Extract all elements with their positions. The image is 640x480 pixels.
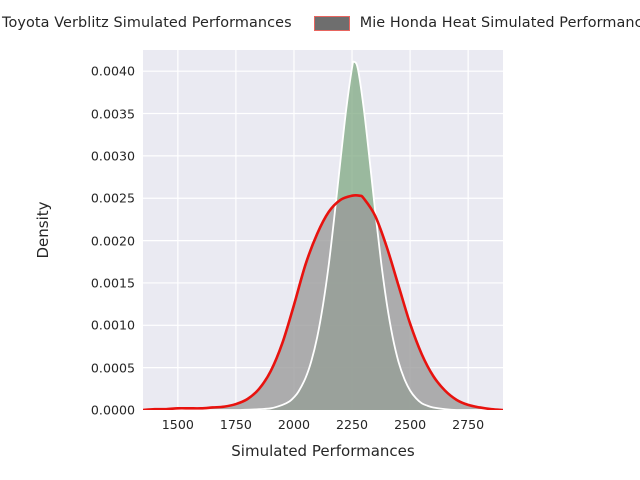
y-tick-label: 0.0020 [47, 233, 135, 248]
y-tick-label: 0.0015 [47, 275, 135, 290]
y-axis-tick-labels: 0.00000.00050.00100.00150.00200.00250.00… [45, 50, 135, 410]
legend-entry-toyota-verblitz: Toyota Verblitz Simulated Performances [0, 15, 292, 31]
plot-area [143, 50, 503, 410]
legend-swatch-mie-honda-heat [314, 16, 350, 31]
chart-legend: Toyota Verblitz Simulated Performances M… [0, 0, 640, 46]
y-tick-label: 0.0035 [47, 106, 135, 121]
y-tick-label: 0.0005 [47, 360, 135, 375]
y-tick-label: 0.0040 [47, 64, 135, 79]
x-axis-label: Simulated Performances [143, 442, 503, 460]
density-plot-figure: Toyota Verblitz Simulated Performances M… [0, 0, 640, 480]
x-axis-tick-labels: 150017502000225025002750 [143, 417, 503, 437]
y-tick-label: 0.0025 [47, 191, 135, 206]
x-tick-label: 2500 [394, 417, 426, 432]
x-tick-label: 1500 [162, 417, 194, 432]
x-tick-label: 1750 [220, 417, 252, 432]
legend-label-toyota-verblitz: Toyota Verblitz Simulated Performances [2, 15, 292, 31]
x-tick-label: 2250 [336, 417, 368, 432]
y-tick-label: 0.0030 [47, 148, 135, 163]
y-tick-label: 0.0000 [47, 403, 135, 418]
density-curves [143, 50, 503, 410]
legend-entry-mie-honda-heat: Mie Honda Heat Simulated Performances [314, 15, 640, 31]
y-axis-label: Density [34, 50, 52, 410]
legend-label-mie-honda-heat: Mie Honda Heat Simulated Performances [360, 15, 640, 31]
x-tick-label: 2000 [278, 417, 310, 432]
x-tick-label: 2750 [452, 417, 484, 432]
y-tick-label: 0.0010 [47, 318, 135, 333]
